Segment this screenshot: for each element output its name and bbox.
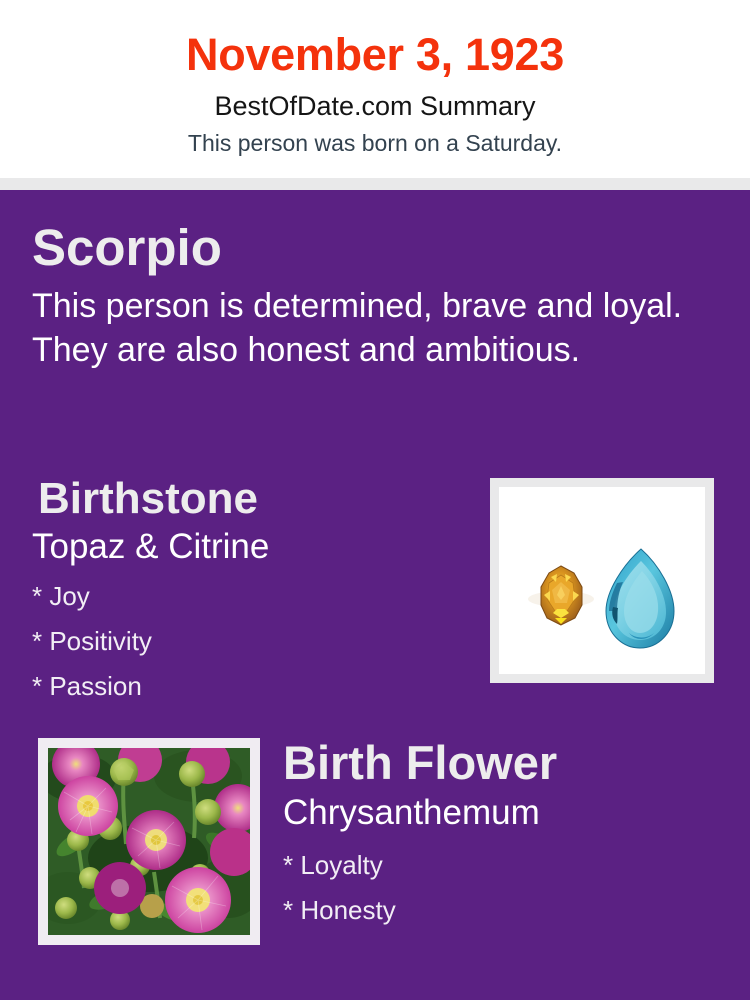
birth-flower-image-frame (38, 738, 260, 945)
list-item: * Loyalty (283, 843, 733, 888)
chrysanthemum-illustration (48, 748, 250, 935)
birthstone-image (499, 487, 705, 674)
zodiac-description: This person is determined, brave and loy… (32, 278, 692, 372)
site-summary-label: BestOfDate.com Summary (0, 82, 750, 123)
list-item: * Joy (32, 574, 462, 619)
birthstone-name: Topaz & Citrine (32, 525, 462, 568)
card-header: November 3, 1923 BestOfDate.com Summary … (0, 0, 750, 178)
summary-card: November 3, 1923 BestOfDate.com Summary … (0, 0, 750, 1000)
gemstones-illustration (499, 487, 705, 674)
zodiac-section: Scorpio This person is determined, brave… (32, 218, 712, 372)
page-title: November 3, 1923 (0, 0, 750, 82)
zodiac-sign-name: Scorpio (32, 218, 712, 278)
list-item: * Honesty (283, 888, 733, 933)
header-divider (0, 178, 750, 190)
birthstone-image-frame (490, 478, 714, 683)
list-item: * Passion (32, 664, 462, 709)
birth-flower-name: Chrysanthemum (283, 791, 733, 835)
birthstone-section: Birthstone Topaz & Citrine * Joy * Posit… (32, 473, 462, 709)
details-panel: Scorpio This person is determined, brave… (0, 190, 750, 1000)
birth-flower-trait-list: * Loyalty * Honesty (283, 843, 733, 933)
birth-flower-section: Birth Flower Chrysanthemum * Loyalty * H… (283, 735, 733, 933)
birth-flower-image (48, 748, 250, 935)
born-day-text: This person was born on a Saturday. (0, 123, 750, 158)
birthstone-trait-list: * Joy * Positivity * Passion (32, 574, 462, 709)
list-item: * Positivity (32, 619, 462, 664)
birthstone-heading: Birthstone (38, 473, 462, 525)
birth-flower-heading: Birth Flower (283, 735, 733, 791)
